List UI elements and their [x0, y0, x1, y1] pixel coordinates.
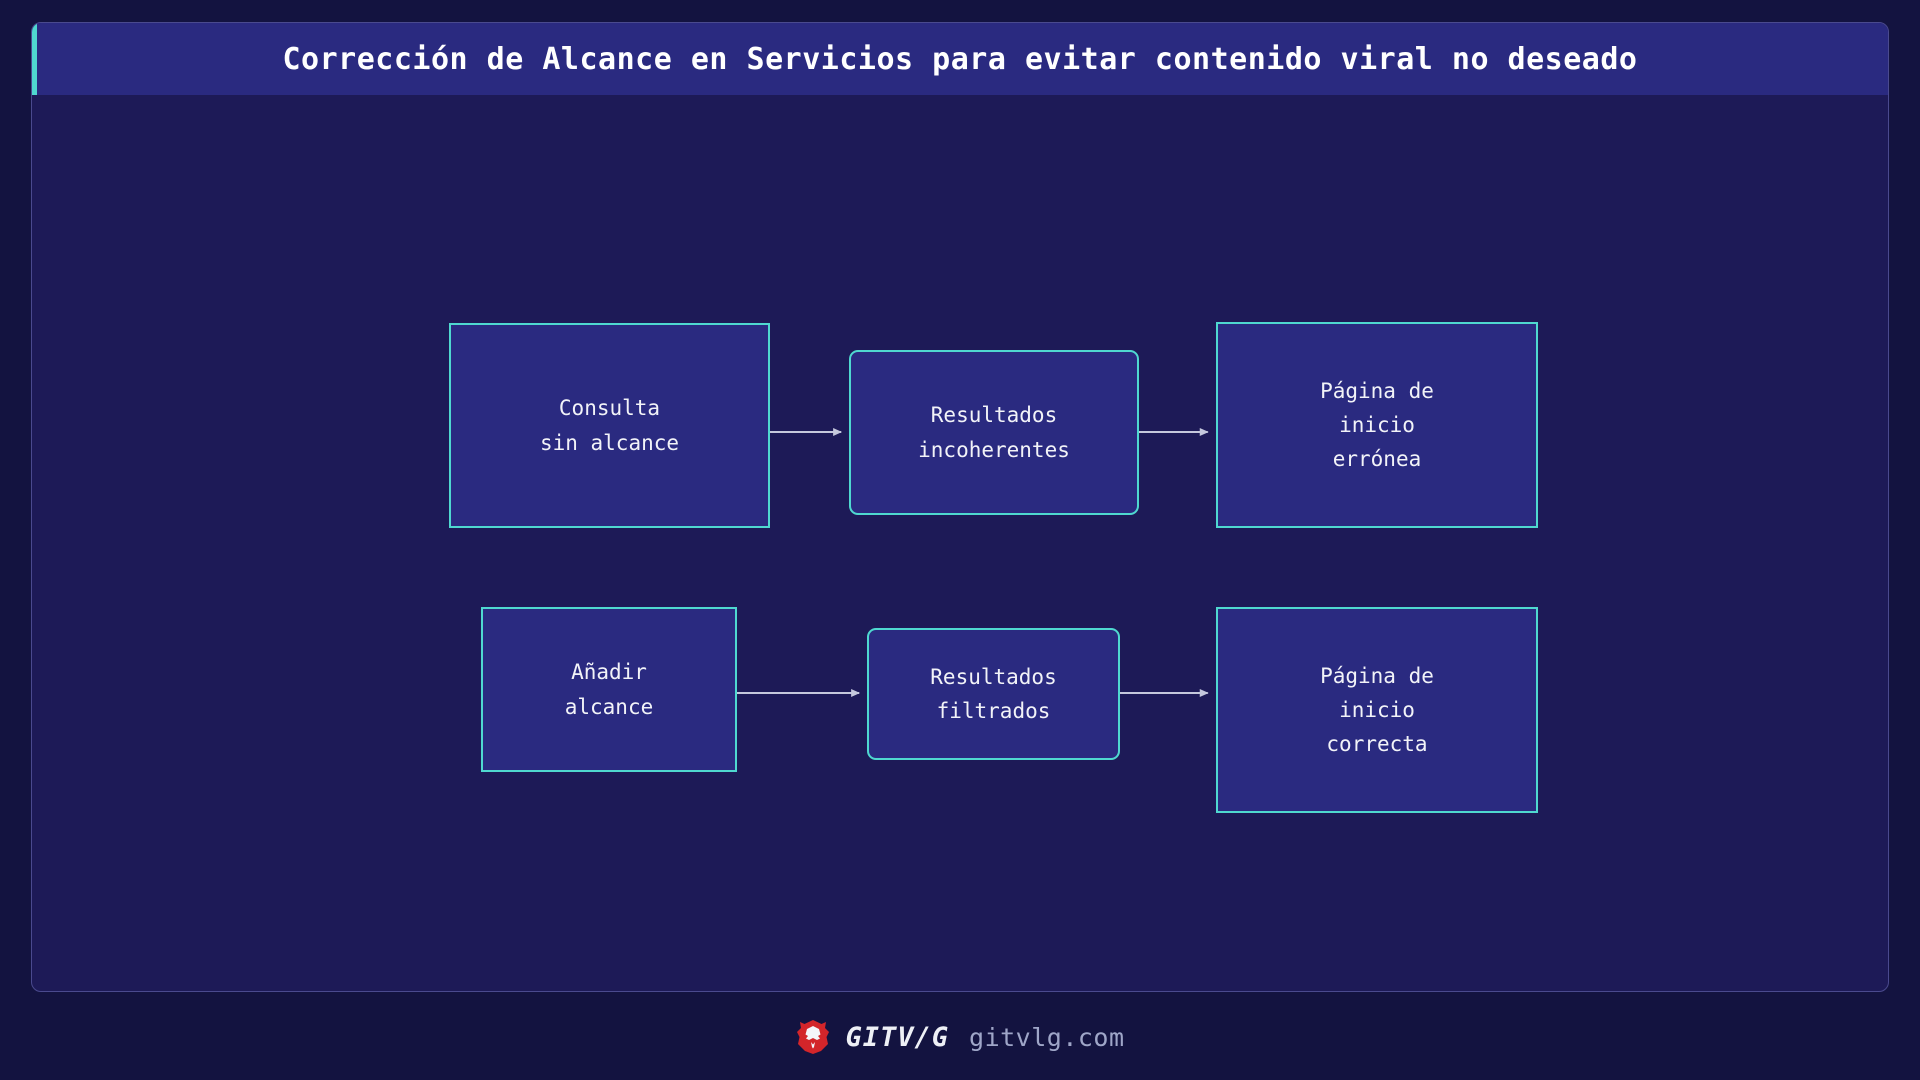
footer-brand-bar: GITV/G gitvlg.com [0, 1008, 1920, 1066]
lion-head-icon [795, 1019, 831, 1055]
node-pagina-de-inicio-erronea[interactable]: Página de inicio errónea [1216, 322, 1538, 528]
node-anadir-alcance[interactable]: Añadir alcance [481, 607, 737, 772]
node-resultados-incoherentes[interactable]: Resultados incoherentes [849, 350, 1139, 515]
main-panel: Corrección de Alcance en Servicios para … [31, 22, 1889, 992]
diagram-arrows [32, 95, 1888, 992]
title-accent-bar [32, 23, 37, 95]
page-title: Corrección de Alcance en Servicios para … [283, 42, 1638, 77]
node-consulta-sin-alcance[interactable]: Consulta sin alcance [449, 323, 770, 528]
title-banner: Corrección de Alcance en Servicios para … [32, 23, 1888, 95]
diagram-canvas: Consulta sin alcance Resultados incohere… [32, 95, 1888, 992]
node-resultados-filtrados[interactable]: Resultados filtrados [867, 628, 1120, 760]
brand-url: gitvlg.com [969, 1023, 1125, 1052]
node-pagina-de-inicio-correcta[interactable]: Página de inicio correcta [1216, 607, 1538, 813]
brand-name: GITV/G [845, 1022, 949, 1053]
